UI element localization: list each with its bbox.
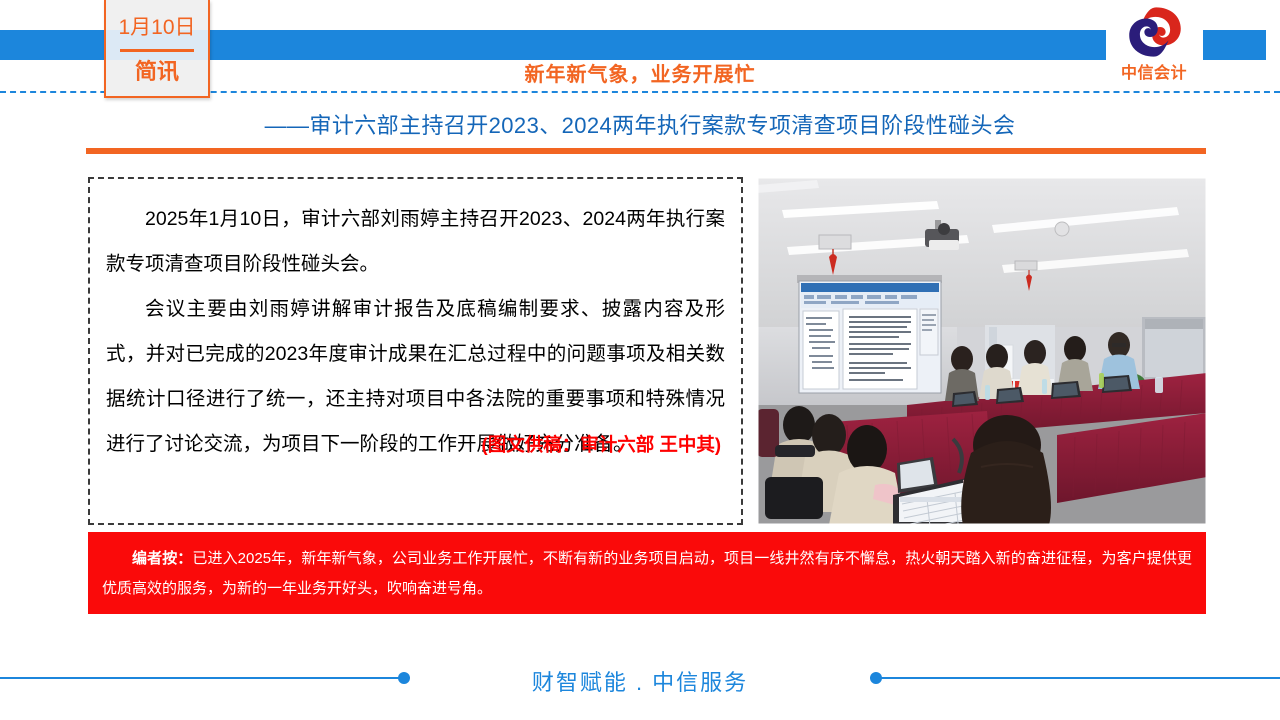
editor-note-body: 已进入2025年，新年新气象，公司业务工作开展忙，不断有新的业务项目启动，项目一… — [102, 550, 1192, 597]
orange-divider — [86, 148, 1206, 154]
editor-note-banner: 编者按：已进入2025年，新年新气象，公司业务工作开展忙，不断有新的业务项目启动… — [88, 532, 1206, 614]
footer-slogan: 财智赋能 . 中信服务 — [420, 665, 860, 697]
date-badge-date: 1月10日 — [106, 15, 208, 41]
footer-dot-left-icon — [398, 672, 410, 684]
header-blue-bar-right — [1203, 30, 1266, 60]
brand-logo-text: 中信会计 — [1112, 59, 1196, 83]
page-footer: 财智赋能 . 中信服务 — [0, 655, 1280, 705]
footer-line-right — [880, 677, 1280, 679]
meeting-photo — [757, 177, 1207, 525]
date-badge-category: 简讯 — [106, 58, 208, 86]
page-header: 1月10日 简讯 中信会计 新年新气象，业务开展忙 — [0, 0, 1280, 100]
page-sub-title: ——审计六部主持召开2023、2024两年执行案款专项清查项目阶段性碰头会 — [0, 108, 1280, 140]
brand-logo: 中信会计 — [1112, 4, 1196, 90]
article-text-box: 2025年1月10日，审计六部刘雨婷主持召开2023、2024两年执行案款专项清… — [88, 177, 743, 525]
date-badge: 1月10日 简讯 — [104, 0, 210, 98]
editor-note-label: 编者按： — [132, 550, 192, 567]
article-paragraph-1: 2025年1月10日，审计六部刘雨婷主持召开2023、2024两年执行案款专项清… — [106, 197, 725, 287]
swirl-logo-icon — [1126, 4, 1184, 60]
date-badge-rule — [120, 49, 194, 52]
footer-line-left — [0, 677, 400, 679]
